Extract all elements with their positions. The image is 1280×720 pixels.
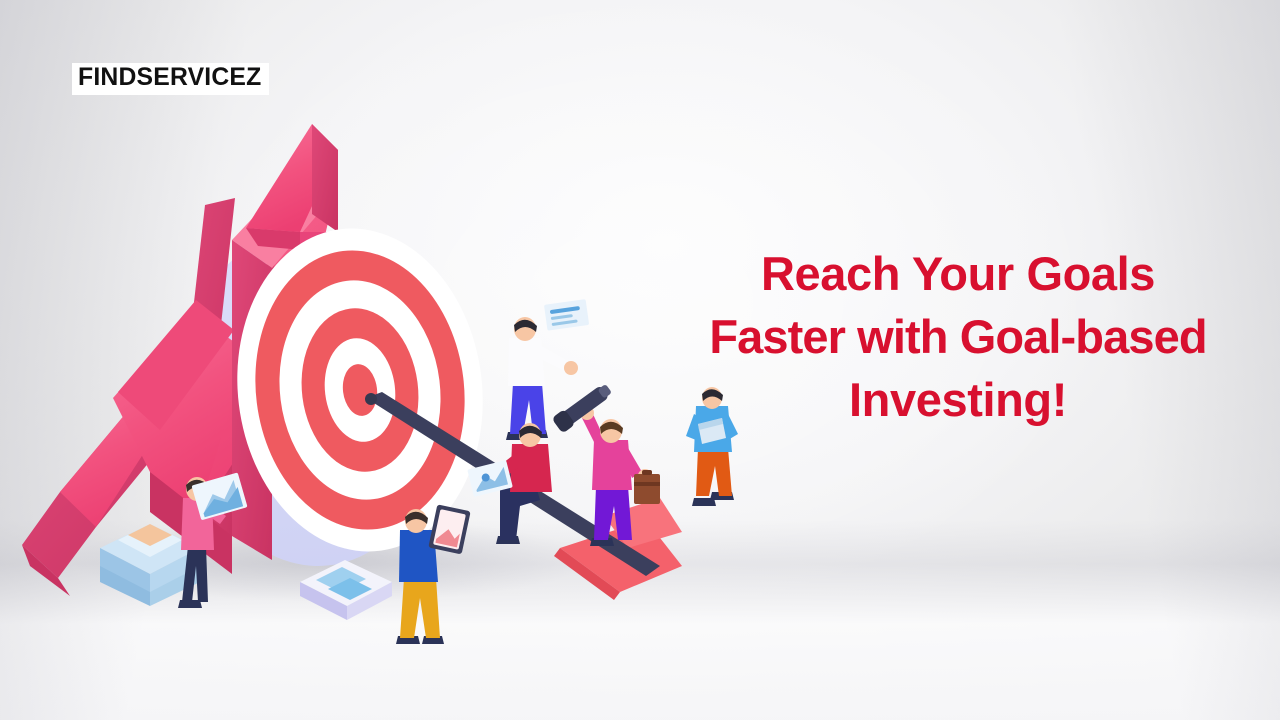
promo-banner: FINDSERVICEZ Reach Your Goals Faster wit… <box>0 0 1280 720</box>
headline-line-1: Reach Your Goals <box>678 242 1238 305</box>
brand-logo[interactable]: FINDSERVICEZ <box>72 63 269 95</box>
headline-line-2: Faster with Goal-based <box>678 305 1238 368</box>
headline: Reach Your Goals Faster with Goal-based … <box>678 242 1238 431</box>
goal-investing-illustration <box>0 0 760 720</box>
brand-logo-text: FINDSERVICEZ <box>78 65 261 90</box>
headline-line-3: Investing! <box>678 368 1238 431</box>
briefcase <box>634 470 660 504</box>
